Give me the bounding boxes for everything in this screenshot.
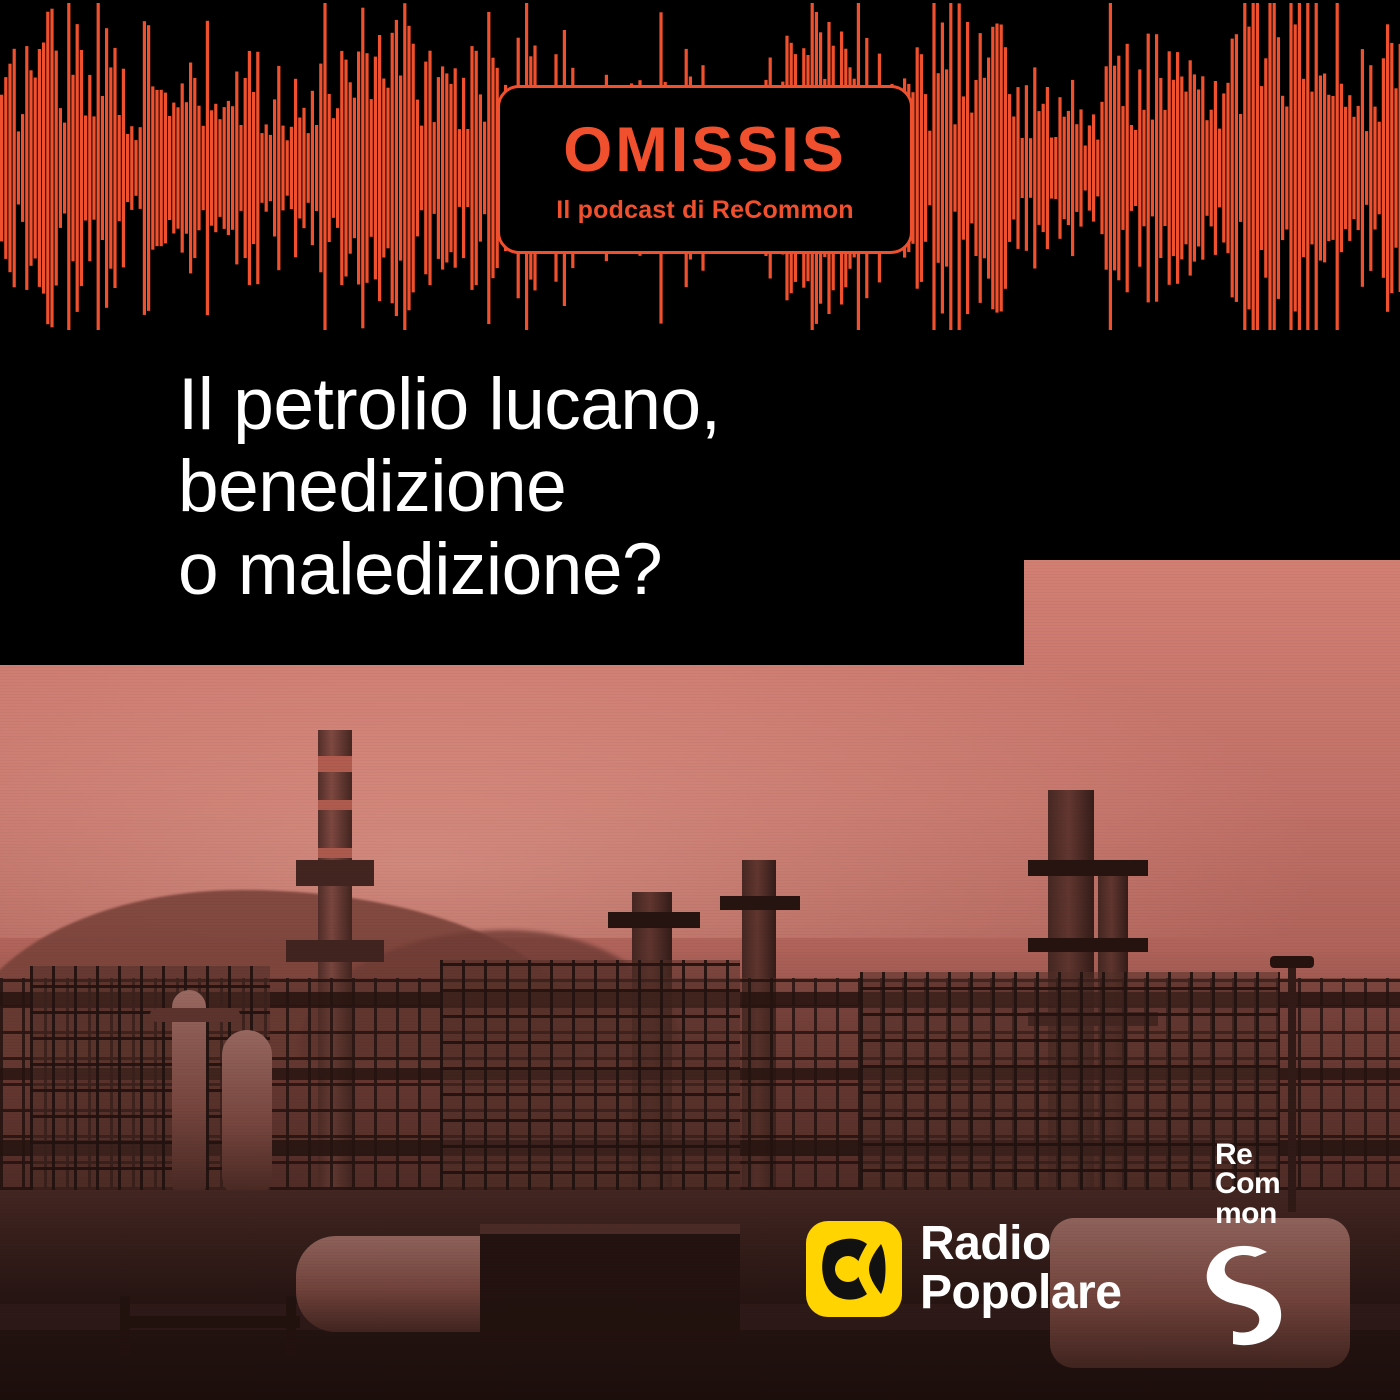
episode-title: Il petrolio lucano, benedizione o maledi… xyxy=(178,364,964,611)
photo-color-tint xyxy=(0,560,1400,1400)
podcast-logo-box: OMISSIS Il podcast di ReCommon xyxy=(497,85,913,254)
recommon-logo: Re Com mon xyxy=(1195,1140,1335,1320)
podcast-title: OMISSIS xyxy=(563,119,847,182)
episode-title-block: Il petrolio lucano, benedizione o maledi… xyxy=(0,330,1024,665)
radio-popolare-mark-icon xyxy=(806,1221,902,1317)
recommon-spiral-mark-icon xyxy=(1195,1236,1299,1346)
podcast-episode-cover: OMISSIS Il podcast di ReCommon Il petrol… xyxy=(0,0,1400,1400)
radio-popolare-glyph-icon xyxy=(817,1232,891,1306)
oil-refinery-photo xyxy=(0,560,1400,1400)
radio-popolare-logo: Radio Popolare xyxy=(806,1220,1121,1318)
radio-popolare-wordmark: Radio Popolare xyxy=(920,1220,1121,1318)
podcast-subtitle: Il podcast di ReCommon xyxy=(556,196,853,225)
recommon-wordmark: Re Com mon xyxy=(1215,1140,1280,1228)
